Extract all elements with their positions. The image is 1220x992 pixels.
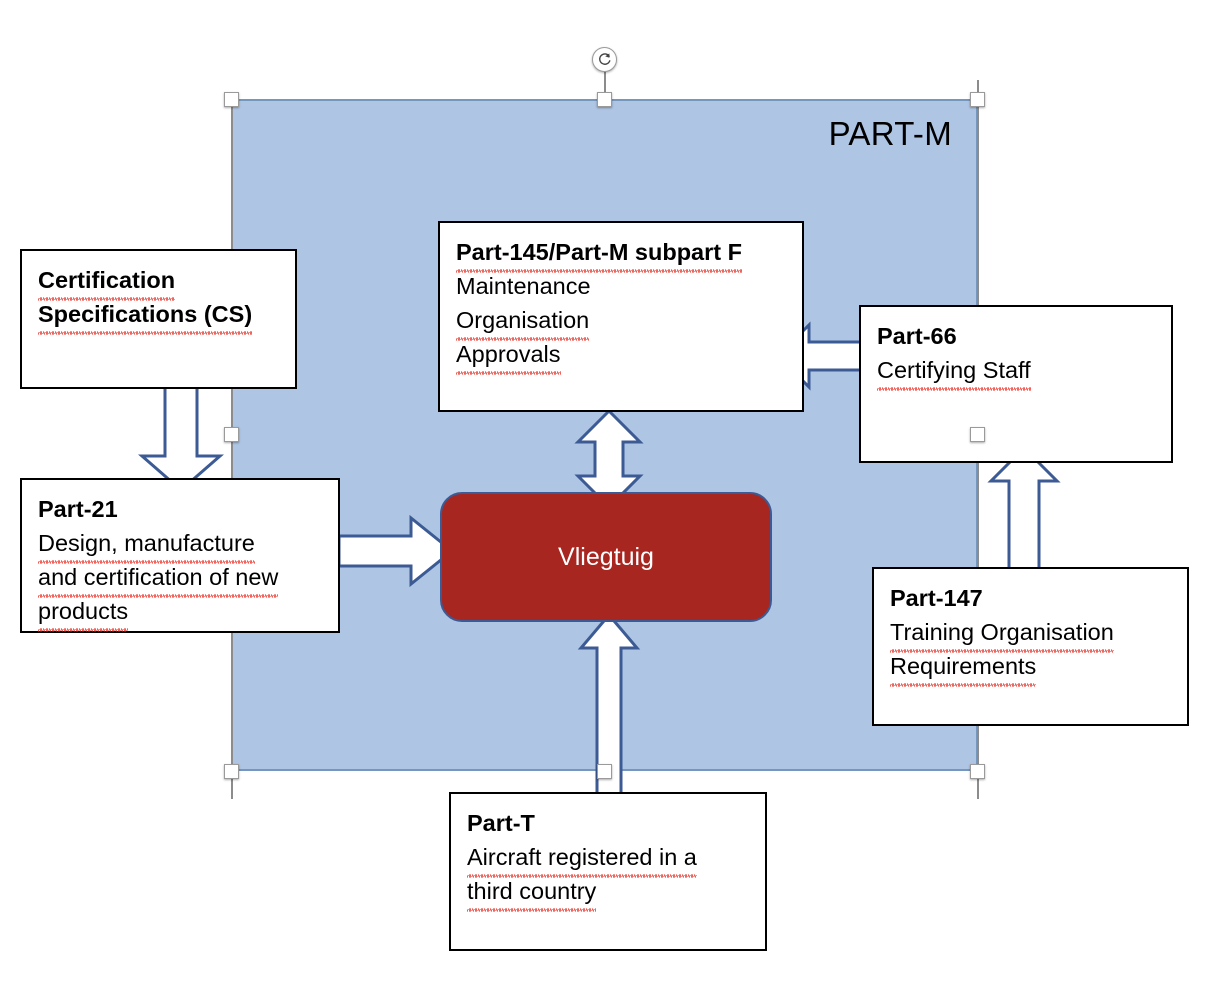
spellcheck-text: Approvals <box>456 337 561 371</box>
selection-handle-bottom-center[interactable] <box>597 764 612 779</box>
part-t-box[interactable]: Part-T Aircraft registered in a third co… <box>449 792 767 951</box>
spellcheck-text: third country <box>467 874 596 908</box>
part-147-box[interactable]: Part-147 Training Organisation Requireme… <box>872 567 1189 726</box>
box-line: Part-66 <box>877 319 1157 353</box>
spellcheck-text: Certification <box>38 263 175 297</box>
arrow-part21-to-vliegtuig[interactable] <box>339 518 452 584</box>
diagram-canvas: PART-M Vliegtu <box>0 0 1220 992</box>
rotate-glyph <box>597 52 612 67</box>
box-line: and certification of new <box>38 560 324 594</box>
spellcheck-text: Requirements <box>890 649 1036 683</box>
spellcheck-text: Aircraft registered in a <box>467 840 697 874</box>
vliegtuig-shape[interactable]: Vliegtuig <box>440 492 772 622</box>
box-line: Design, manufacture <box>38 526 324 560</box>
arrow-part147-to-part66[interactable] <box>991 448 1057 573</box>
box-line: products <box>38 594 324 628</box>
spellcheck-text: Specifications (CS) <box>38 297 252 331</box>
box-line: Certification <box>38 263 281 297</box>
box-line: third country <box>467 874 751 908</box>
box-line: Certifying Staff <box>877 353 1157 387</box>
rotate-icon[interactable] <box>592 47 617 72</box>
box-line: Aircraft registered in a <box>467 840 751 874</box>
selection-handle-top-right[interactable] <box>970 92 985 107</box>
selection-handle-bottom-left[interactable] <box>224 764 239 779</box>
box-line: Specifications (CS) <box>38 297 281 331</box>
selection-handle-top-center[interactable] <box>597 92 612 107</box>
part-66-box[interactable]: Part-66 Certifying Staff <box>859 305 1173 463</box>
vliegtuig-label: Vliegtuig <box>558 543 654 572</box>
spellcheck-text: products <box>38 594 128 628</box>
selection-handle-middle-right[interactable] <box>970 427 985 442</box>
box-line: Part-147 <box>890 581 1173 615</box>
box-line: Maintenance <box>456 269 788 303</box>
box-line: Training Organisation <box>890 615 1173 649</box>
certification-specifications-box[interactable]: Certification Specifications (CS) <box>20 249 297 389</box>
selection-handle-top-left[interactable] <box>224 92 239 107</box>
part-145-box[interactable]: Part-145/Part-M subpart F Maintenance Or… <box>438 221 804 412</box>
spellcheck-text: Certifying Staff <box>877 353 1031 387</box>
part-m-label: PART-M <box>829 115 952 153</box>
box-line: Organisation <box>456 303 788 337</box>
selection-handle-middle-left[interactable] <box>224 427 239 442</box>
spellcheck-text: and certification of new <box>38 560 278 594</box>
spellcheck-text: Design, manufacture <box>38 526 255 560</box>
arrow-cs-to-part21[interactable] <box>142 386 220 490</box>
selection-handle-bottom-right[interactable] <box>970 764 985 779</box>
box-line: Requirements <box>890 649 1173 683</box>
box-line: Part-145/Part-M subpart F <box>456 235 788 269</box>
part-21-box[interactable]: Part-21 Design, manufacture and certific… <box>20 478 340 633</box>
box-line: Part-21 <box>38 492 324 526</box>
spellcheck-text: Training Organisation <box>890 615 1114 649</box>
spellcheck-text: Organisation <box>456 303 589 337</box>
selection-guide-left <box>231 99 233 799</box>
spellcheck-text: Part-145/Part-M subpart F <box>456 235 742 269</box>
box-line: Part-T <box>467 806 751 840</box>
box-line: Approvals <box>456 337 788 371</box>
